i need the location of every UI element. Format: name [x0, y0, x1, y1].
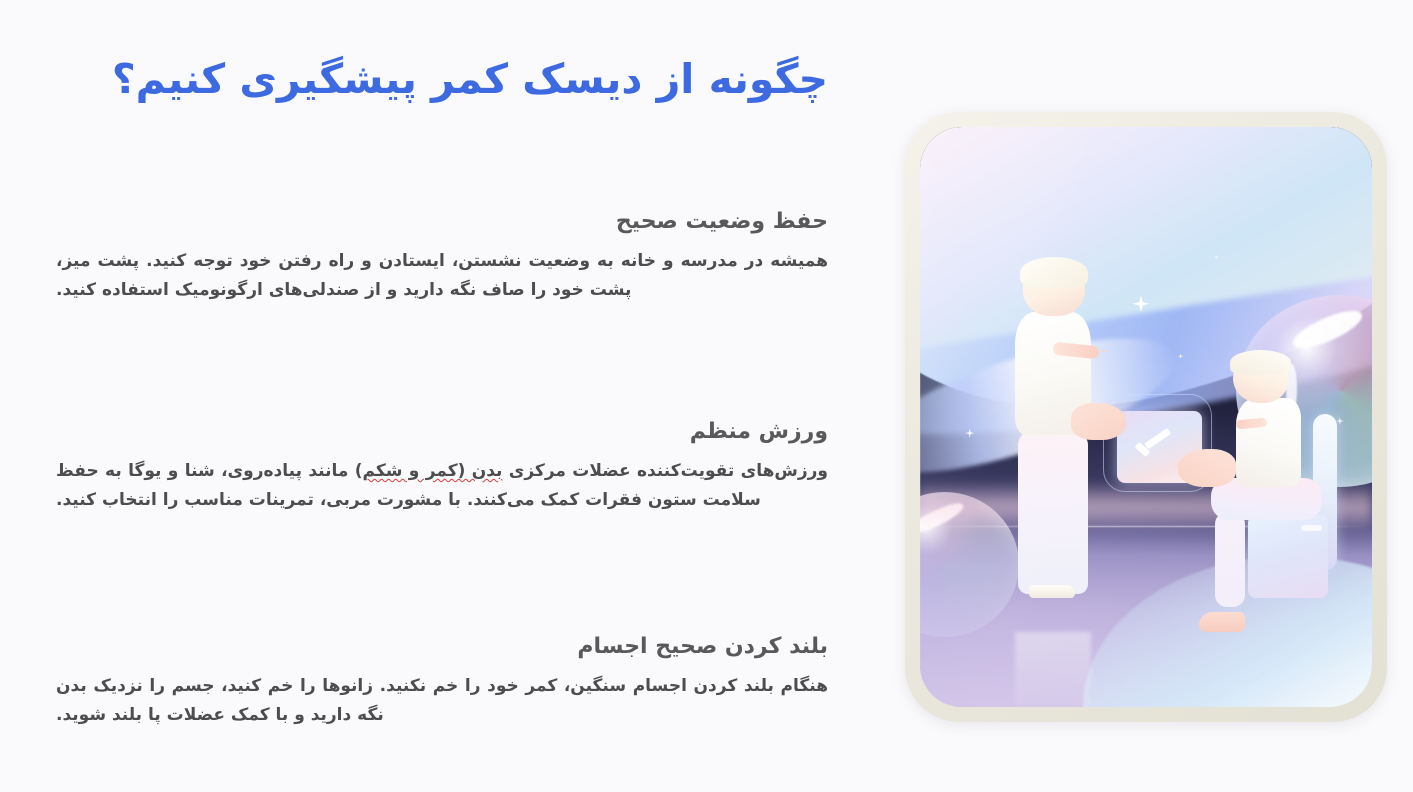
standing-figure-hand-overlay	[1071, 403, 1125, 441]
standing-figure-hand	[1100, 350, 1109, 352]
standing-figure-legs	[1018, 431, 1089, 594]
seated-figure-hair	[1230, 350, 1291, 375]
checkmark-icon	[1137, 430, 1171, 450]
standing-figure-shoe	[1029, 585, 1076, 598]
section-posture-heading: حفظ وضعیت صحیح	[56, 205, 828, 238]
section-lifting-heading: بلند کردن صحیح اجسام	[56, 630, 828, 663]
seated-figure-hand-overlay	[1178, 449, 1237, 487]
seated-figure-foot	[1199, 612, 1245, 631]
standing-figure-arm	[1052, 342, 1099, 360]
section-posture-body: همیشه در مدرسه و خانه به وضعیت نشستن، ای…	[56, 247, 828, 305]
spellcheck-flagged-text[interactable]: بدن (کمر و شکم	[363, 461, 503, 481]
seated-figure-torso	[1236, 398, 1301, 487]
section-lifting-body: هنگام بلند کردن اجسام سنگین، کمر خود را …	[56, 672, 828, 730]
standing-figure-hair	[1020, 257, 1088, 289]
section-posture: حفظ وضعیت صحیح همیشه در مدرسه و خانه به …	[56, 205, 828, 305]
section-exercise-body-part1: ورزش‌های تقویت‌کننده عضلات مرکزی	[502, 461, 828, 481]
illustration-canvas	[920, 127, 1372, 707]
section-exercise-heading: ورزش منظم	[56, 415, 828, 448]
section-exercise-body: ورزش‌های تقویت‌کننده عضلات مرکزی بدن (کم…	[56, 457, 828, 515]
seated-figure-arm	[1236, 418, 1268, 430]
seated-figure-shin	[1215, 512, 1246, 607]
section-lifting: بلند کردن صحیح اجسام هنگام بلند کردن اجس…	[56, 630, 828, 730]
document-page: چگونه از دیسک کمر پیشگیری کنیم؟ حفظ وضعی…	[0, 0, 1413, 792]
section-exercise: ورزش منظم ورزش‌های تقویت‌کننده عضلات مرک…	[56, 415, 828, 515]
page-title: چگونه از دیسک کمر پیشگیری کنیم؟	[108, 52, 828, 107]
standing-figure-reflection	[1015, 632, 1091, 707]
illustration-frame[interactable]	[905, 112, 1387, 722]
seated-figure	[1178, 353, 1332, 631]
chair-seat	[1248, 515, 1328, 599]
